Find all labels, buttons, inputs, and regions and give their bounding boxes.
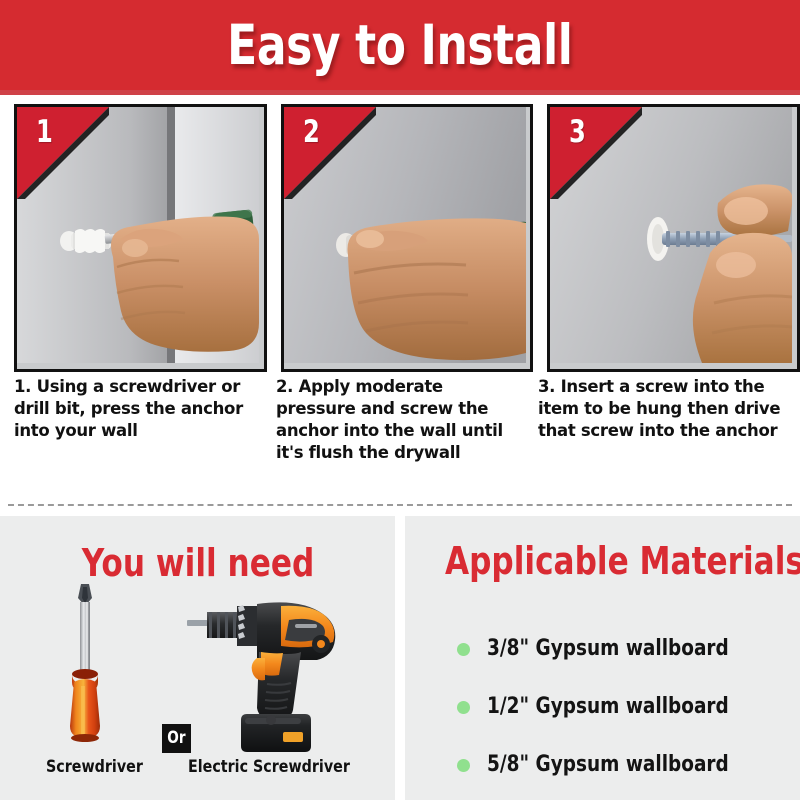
page-title: Easy to Install — [227, 18, 572, 73]
materials-title: Applicable Materials — [445, 542, 800, 580]
tools-illustrations: Or — [0, 582, 395, 752]
step-number-1: 1 — [36, 117, 53, 148]
section-divider — [8, 504, 792, 506]
list-item: 5/8" Gypsum wallboard — [405, 736, 800, 794]
tool-label-screwdriver: Screwdriver — [46, 759, 143, 776]
material-label: 1/2" Gypsum wallboard — [487, 696, 729, 718]
panel-gap — [395, 516, 405, 800]
header-banner: Easy to Install — [0, 0, 800, 90]
or-label: Or — [167, 730, 185, 747]
tools-panel: You will need — [0, 516, 395, 800]
list-item: 3/8" Gypsum wallboard — [405, 620, 800, 678]
list-item: 1/2" Gypsum wallboard — [405, 678, 800, 736]
material-label: 3/8" Gypsum wallboard — [487, 638, 729, 660]
step-panel-3: 3 — [547, 104, 800, 372]
step-caption-3: 3. Insert a screw into the item to be hu… — [538, 376, 786, 486]
bullet-icon — [457, 759, 470, 772]
step-number-badge-1 — [17, 107, 109, 199]
materials-list: 3/8" Gypsum wallboard 1/2" Gypsum wallbo… — [405, 620, 800, 794]
bullet-icon — [457, 701, 470, 714]
tool-label-electric-screwdriver: Electric Screwdriver — [188, 759, 350, 776]
step-panel-2: 2 — [281, 104, 534, 372]
step-number-2: 2 — [303, 117, 320, 148]
step-number-badge-3 — [550, 107, 642, 199]
electric-drill-icon — [185, 592, 375, 752]
infographic-page: Easy to Install — [0, 0, 800, 800]
screwdriver-icon — [50, 582, 120, 750]
steps-row: 1 — [0, 104, 800, 369]
materials-panel: Applicable Materials 3/8" Gypsum wallboa… — [405, 516, 800, 800]
step-caption-2: 2. Apply moderate pressure and screw the… — [276, 376, 524, 486]
bottom-sections: You will need — [0, 516, 800, 800]
banner-bottom-edge — [0, 90, 800, 95]
step-number-badge-2 — [284, 107, 376, 199]
tools-title: You will need — [81, 544, 314, 582]
captions-row: 1. Using a screwdriver or drill bit, pre… — [0, 376, 800, 486]
or-badge: Or — [162, 724, 191, 753]
material-label: 5/8" Gypsum wallboard — [487, 754, 729, 776]
step-number-3: 3 — [569, 117, 586, 148]
step-panel-1: 1 — [14, 104, 267, 372]
step-caption-1: 1. Using a screwdriver or drill bit, pre… — [14, 376, 262, 486]
bullet-icon — [457, 643, 470, 656]
